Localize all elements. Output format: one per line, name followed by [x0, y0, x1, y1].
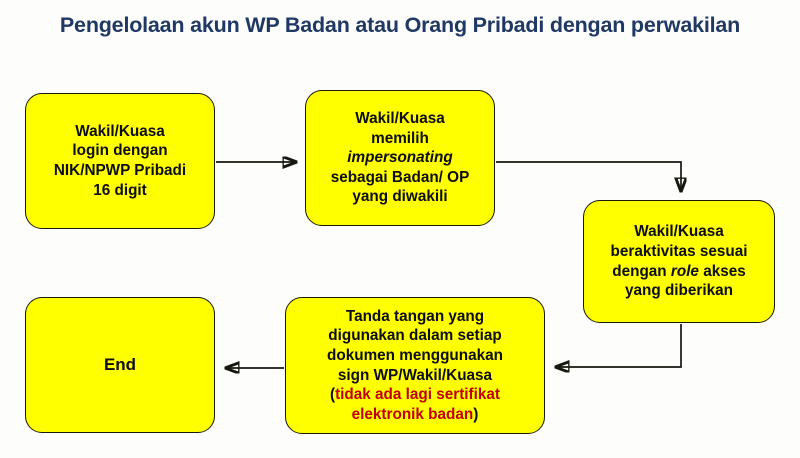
node-login[interactable]: Wakil/Kuasa login dengan NIK/NPWP Pribad… — [25, 93, 215, 229]
node-impersonate-line-3-italic: impersonating — [312, 148, 488, 168]
note-red-text-2: elektronik badan — [352, 406, 474, 423]
connector-activity-to-signature — [556, 324, 681, 367]
node-activity-text: Wakil/Kuasa beraktivitas sesuai dengan r… — [584, 222, 774, 300]
node-activity-line-4: yang diberikan — [590, 281, 768, 301]
node-activity-line-3: dengan role akses — [590, 262, 768, 282]
node-signature[interactable]: Tanda tangan yang digunakan dalam setiap… — [285, 297, 545, 434]
flowchart-canvas: Pengelolaan akun WP Badan atau Orang Pri… — [0, 0, 800, 458]
node-impersonate-line-4: sebagai Badan/ OP — [312, 168, 488, 188]
node-impersonate-text: Wakil/Kuasa memilih impersonating sebaga… — [306, 109, 494, 207]
node-signature-line-4: sign WP/Wakil/Kuasa — [292, 366, 538, 386]
node-signature-line-1: Tanda tangan yang — [292, 307, 538, 327]
note-close-paren: ) — [473, 406, 478, 423]
node-login-line-4: 16 digit — [32, 181, 208, 201]
node-activity-line-3-suffix: akses — [699, 263, 746, 280]
node-end[interactable]: End — [25, 297, 215, 433]
node-signature-note-line-2: elektronik badan) — [292, 405, 538, 425]
node-signature-line-3: dokumen menggunakan — [292, 346, 538, 366]
node-impersonate-line-1: Wakil/Kuasa — [312, 109, 488, 129]
node-login-line-3: NIK/NPWP Pribadi — [32, 161, 208, 181]
node-activity[interactable]: Wakil/Kuasa beraktivitas sesuai dengan r… — [583, 200, 775, 323]
node-end-label: End — [32, 355, 208, 375]
node-login-text: Wakil/Kuasa login dengan NIK/NPWP Pribad… — [26, 122, 214, 200]
page-title: Pengelolaan akun WP Badan atau Orang Pri… — [0, 12, 800, 38]
note-red-text-1: tidak ada lagi sertifikat — [335, 386, 500, 403]
node-activity-line-3-prefix: dengan — [612, 263, 671, 280]
node-impersonate-line-5: yang diwakili — [312, 187, 488, 207]
node-login-line-1: Wakil/Kuasa — [32, 122, 208, 142]
node-activity-italic-role: role — [671, 263, 699, 280]
node-activity-line-2: beraktivitas sesuai — [590, 242, 768, 262]
node-signature-line-2: digunakan dalam setiap — [292, 326, 538, 346]
node-signature-text: Tanda tangan yang digunakan dalam setiap… — [286, 307, 544, 425]
node-login-line-2: login dengan — [32, 141, 208, 161]
node-signature-note-line-1: (tidak ada lagi sertifikat — [292, 385, 538, 405]
node-impersonate-line-2: memilih — [312, 129, 488, 149]
node-activity-line-1: Wakil/Kuasa — [590, 222, 768, 242]
connector-impersonate-to-activity — [496, 162, 681, 191]
node-impersonate[interactable]: Wakil/Kuasa memilih impersonating sebaga… — [305, 90, 495, 226]
node-end-text: End — [26, 355, 214, 375]
